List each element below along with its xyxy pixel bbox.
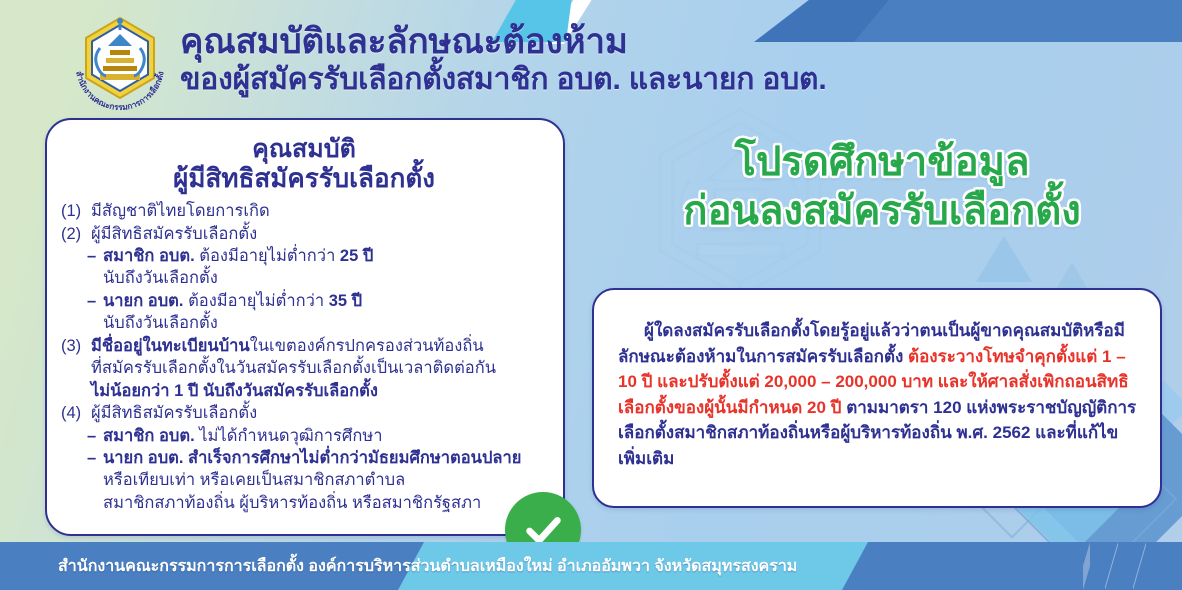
dash-bullet: – — [87, 425, 103, 447]
item-line2: ที่สมัครรับเลือกตั้งในวันสมัครรับเลือกตั… — [91, 357, 547, 379]
qualification-list: (1) มีสัญชาติไทยโดยการเกิด (2) ผู้มีสิทธ… — [61, 200, 547, 514]
triangle-accent-1 — [976, 236, 1032, 282]
sub-item: – สมาชิก อบต. ต้องมีอายุไม่ต่ำกว่า 25 ปี — [87, 245, 547, 267]
item-bold-lead: มีชื่ออยู่ในทะเบียนบ้าน — [91, 337, 250, 355]
header-title-line2: ของผู้สมัครรับเลือกตั้งสมาชิก อบต. และนา… — [180, 63, 826, 97]
item-text: ผู้มีสิทธิสมัครรับเลือกตั้ง — [91, 402, 547, 424]
sub-item: – นายก อบต. สำเร็จการศึกษาไม่ต่ำกว่ามัธย… — [87, 447, 547, 469]
footer-bar: สำนักงานคณะกรรมการการเลือกตั้ง องค์การบร… — [0, 542, 1182, 590]
sub-item-text: นายก อบต. สำเร็จการศึกษาไม่ต่ำกว่ามัธยมศ… — [103, 447, 547, 469]
sub-bold-tail: 35 ปี — [329, 292, 362, 310]
sub-bold-lead: สมาชิก อบต. — [103, 247, 195, 265]
list-item: (1) มีสัญชาติไทยโดยการเกิด — [61, 200, 547, 222]
sub-item: – นายก อบต. ต้องมีอายุไม่ต่ำกว่า 35 ปี — [87, 290, 547, 312]
sub-item-continuation: หรือเทียบเท่า หรือเคยเป็นสมาชิกสภาตำบล — [103, 469, 547, 491]
item-text: มีสัญชาติไทยโดยการเกิด — [91, 200, 547, 222]
card-title-line2: ผู้มีสิทธิสมัครรับเลือกตั้ง — [61, 164, 547, 194]
green-heading-line2: ก่อนลงสมัครรับเลือกตั้ง — [592, 189, 1172, 234]
footer-stripe-3 — [1083, 542, 1090, 590]
sub-item-continuation: นับถึงวันเลือกตั้ง — [103, 312, 547, 334]
item-rest: ในเขตองค์กรปกครองส่วนท้องถิ่น — [250, 337, 484, 355]
header-title-line1: คุณสมบัติและลักษณะต้องห้าม — [180, 22, 826, 61]
sub-item-text: สมาชิก อบต. ไม่ได้กำหนดวุฒิการศึกษา — [103, 425, 547, 447]
header: สำนักงานคณะกรรมการการเลือกตั้ง คุณสมบัติ… — [0, 0, 1182, 118]
item-number: (4) — [61, 402, 91, 424]
sub-mid: ไม่ได้กำหนดวุฒิการศึกษา — [195, 427, 383, 445]
penalty-notice-box: ผู้ใดลงสมัครรับเลือกตั้งโดยรู้อยู่แล้วว่… — [592, 288, 1162, 508]
footer-stripe-2 — [1105, 542, 1118, 590]
sub-bold-tail: 25 ปี — [340, 247, 373, 265]
qualifications-card: คุณสมบัติ ผู้มีสิทธิสมัครรับเลือกตั้ง (1… — [45, 118, 565, 536]
item-number: (3) — [61, 335, 91, 357]
green-heading-line1: โปรดศึกษาข้อมูล — [592, 140, 1172, 185]
list-item: (4) ผู้มีสิทธิสมัครรับเลือกตั้ง — [61, 402, 547, 424]
item-text: ผู้มีสิทธิสมัครรับเลือกตั้ง — [91, 223, 547, 245]
footer-text: สำนักงานคณะกรรมการการเลือกตั้ง องค์การบร… — [58, 542, 797, 590]
item-number: (2) — [61, 223, 91, 245]
footer-stripe-1 — [1133, 542, 1146, 590]
item-number: (1) — [61, 200, 91, 222]
penalty-notice-text: ผู้ใดลงสมัครรับเลือกตั้งโดยรู้อยู่แล้วว่… — [618, 318, 1138, 471]
sub-item-continuation-2: สมาชิกสภาท้องถิ่น ผู้บริหารท้องถิ่น หรือ… — [103, 492, 547, 514]
sub-mid: ต้องมีอายุไม่ต่ำกว่า — [183, 292, 328, 310]
header-titles: คุณสมบัติและลักษณะต้องห้าม ของผู้สมัครรั… — [180, 22, 826, 97]
dash-bullet: – — [87, 447, 103, 469]
card-title-line1: คุณสมบัติ — [252, 135, 356, 163]
sub-item-text: นายก อบต. ต้องมีอายุไม่ต่ำกว่า 35 ปี — [103, 290, 547, 312]
list-item: (3) มีชื่ออยู่ในทะเบียนบ้านในเขตองค์กรปก… — [61, 335, 547, 357]
sub-item-continuation: นับถึงวันเลือกตั้ง — [103, 267, 547, 289]
infographic-canvas: สำนักงานคณะกรรมการการเลือกตั้ง คุณสมบัติ… — [0, 0, 1182, 590]
sub-bold-lead: สมาชิก อบต. — [103, 427, 195, 445]
dash-bullet: – — [87, 245, 103, 267]
card-title: คุณสมบัติ ผู้มีสิทธิสมัครรับเลือกตั้ง — [61, 135, 547, 193]
sub-item-text: สมาชิก อบต. ต้องมีอายุไม่ต่ำกว่า 25 ปี — [103, 245, 547, 267]
item-text: มีชื่ออยู่ในทะเบียนบ้านในเขตองค์กรปกครอง… — [91, 335, 547, 357]
sub-mid: ต้องมีอายุไม่ต่ำกว่า — [195, 247, 340, 265]
dash-bullet: – — [87, 290, 103, 312]
green-heading: โปรดศึกษาข้อมูล ก่อนลงสมัครรับเลือกตั้ง — [592, 140, 1172, 234]
item-line3: ไม่น้อยกว่า 1 ปี นับถึงวันสมัครรับเลือกต… — [91, 380, 547, 402]
sub-bold-lead: นายก อบต. — [103, 292, 183, 310]
sub-item: – สมาชิก อบต. ไม่ได้กำหนดวุฒิการศึกษา — [87, 425, 547, 447]
list-item: (2) ผู้มีสิทธิสมัครรับเลือกตั้ง — [61, 223, 547, 245]
ect-emblem-logo: สำนักงานคณะกรรมการการเลือกตั้ง — [62, 6, 178, 114]
